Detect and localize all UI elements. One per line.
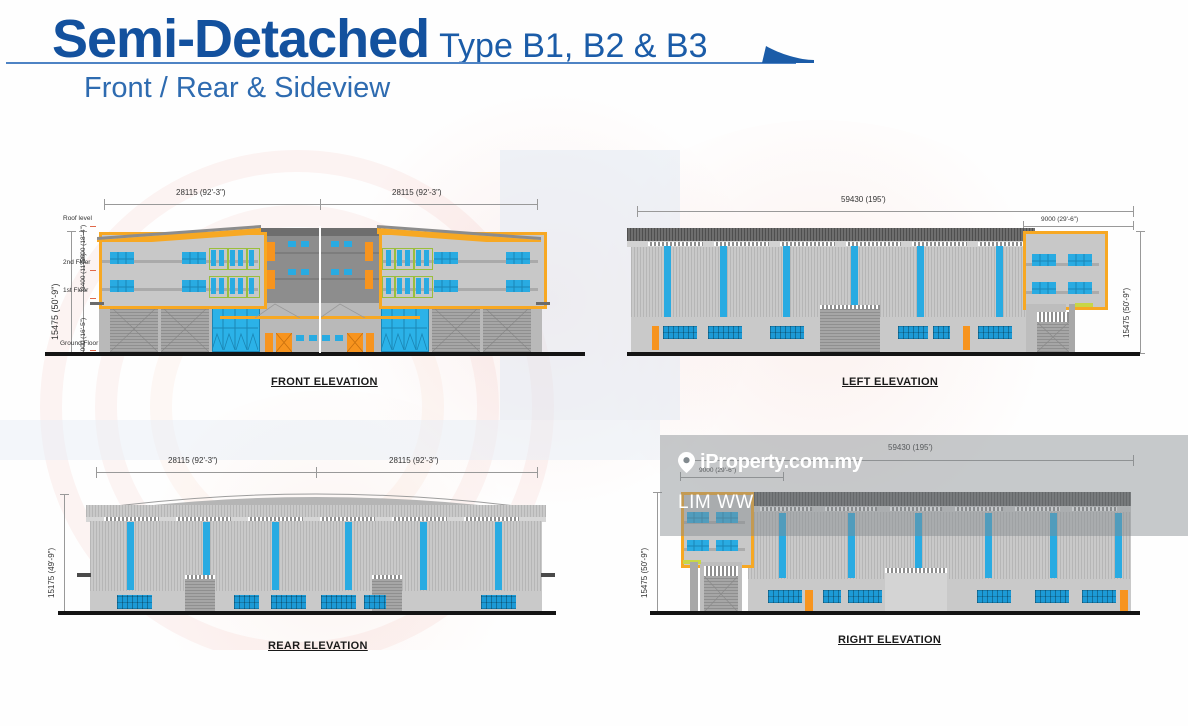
location-pin-icon [678,452,695,473]
right-door-orange-1 [805,590,813,612]
page-title-type: Type B1, B2 & B3 [439,27,707,65]
page-subtitle: Front / Rear & Sideview [84,72,390,105]
title-underline [6,62,796,64]
right-loading-dock [885,572,947,612]
watermark-username: LIM WW [678,492,754,514]
right-elevation-caption: RIGHT ELEVATION [838,634,941,646]
right-ground-line [650,611,1140,615]
right-door-orange-2 [1120,590,1128,612]
title-row: Semi-DetachedType B1, B2 & B3 [52,8,708,70]
swoosh-decoration [762,44,816,64]
right-height-dim: 15475 (50'-9") [640,548,649,598]
watermark-brand: iProperty.com.my [678,451,863,474]
page-title: Semi-Detached [52,9,429,69]
page-header: Semi-DetachedType B1, B2 & B3 Front / Re… [0,0,1188,120]
watermark-brand-text: iProperty.com.my [700,451,863,474]
